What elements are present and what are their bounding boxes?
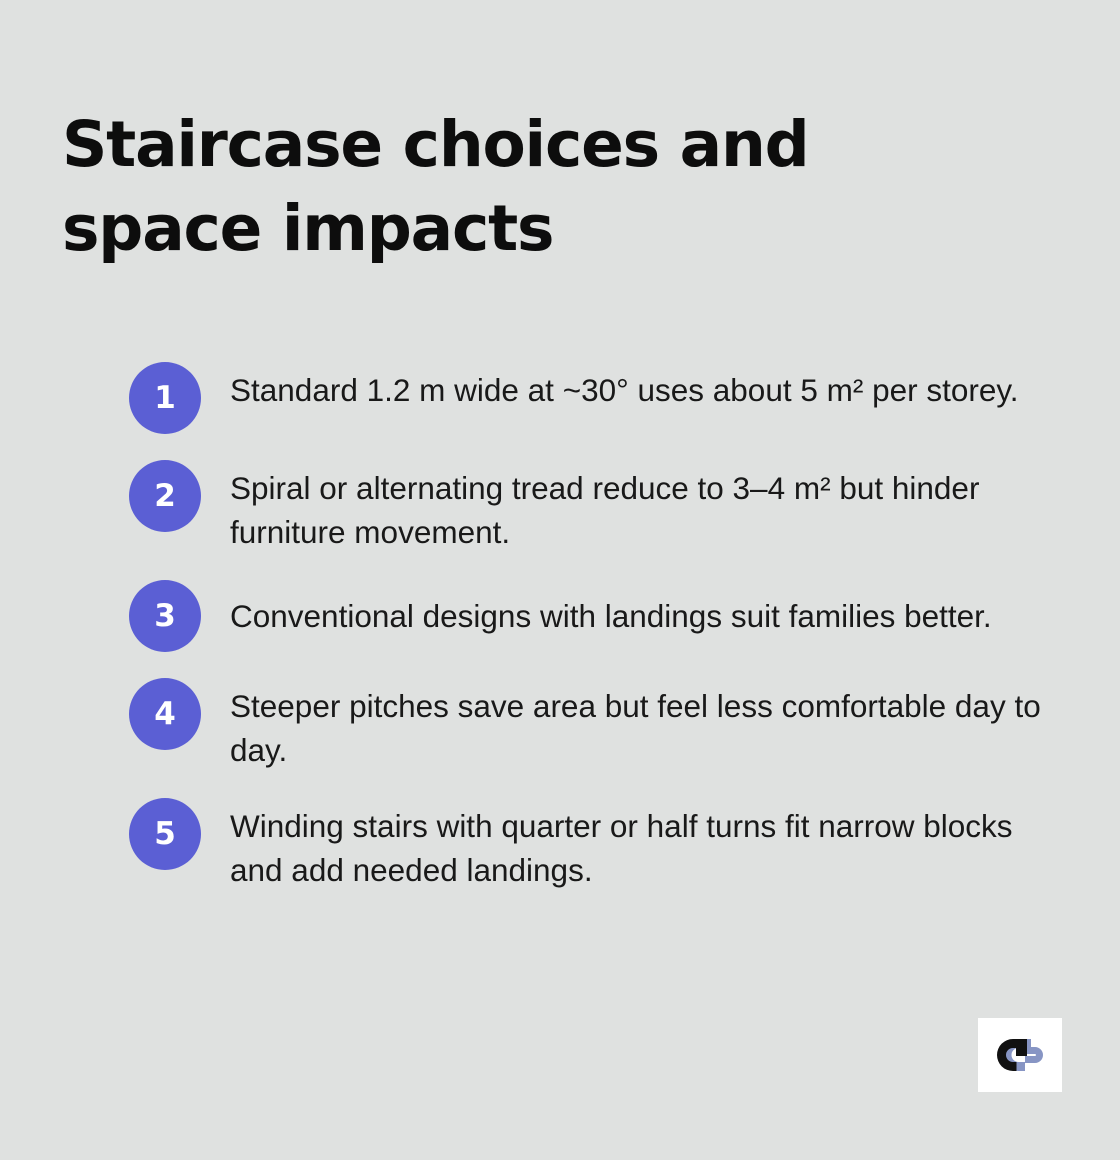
list-item: 5 Winding stairs with quarter or half tu… xyxy=(129,798,1069,892)
list-number-badge-3: 3 xyxy=(129,580,201,652)
list-item-text-4: Steeper pitches save area but feel less … xyxy=(230,678,1042,772)
list-item-text-3: Conventional designs with landings suit … xyxy=(230,594,1042,638)
list-number-badge-5: 5 xyxy=(129,798,201,870)
logo-container xyxy=(978,1018,1062,1092)
title-block: Staircase choices and space impacts xyxy=(62,103,982,271)
list-item: 4 Steeper pitches save area but feel les… xyxy=(129,678,1069,772)
infographic-canvas: Staircase choices and space impacts 1 St… xyxy=(0,0,1120,1160)
brand-logo-icon xyxy=(997,1038,1043,1072)
list-item: 1 Standard 1.2 m wide at ~30° uses about… xyxy=(129,362,1069,434)
list-number-badge-4: 4 xyxy=(129,678,201,750)
list-number-badge-2: 2 xyxy=(129,460,201,532)
list-item-text-2: Spiral or alternating tread reduce to 3–… xyxy=(230,460,1042,554)
list-item-text-1: Standard 1.2 m wide at ~30° uses about 5… xyxy=(230,362,1042,412)
list-item: 2 Spiral or alternating tread reduce to … xyxy=(129,460,1069,554)
list-number-badge-1: 1 xyxy=(129,362,201,434)
page-title: Staircase choices and space impacts xyxy=(62,103,982,271)
numbered-list: 1 Standard 1.2 m wide at ~30° uses about… xyxy=(129,362,1069,892)
list-item-text-5: Winding stairs with quarter or half turn… xyxy=(230,798,1042,892)
list-item: 3 Conventional designs with landings sui… xyxy=(129,580,1069,652)
